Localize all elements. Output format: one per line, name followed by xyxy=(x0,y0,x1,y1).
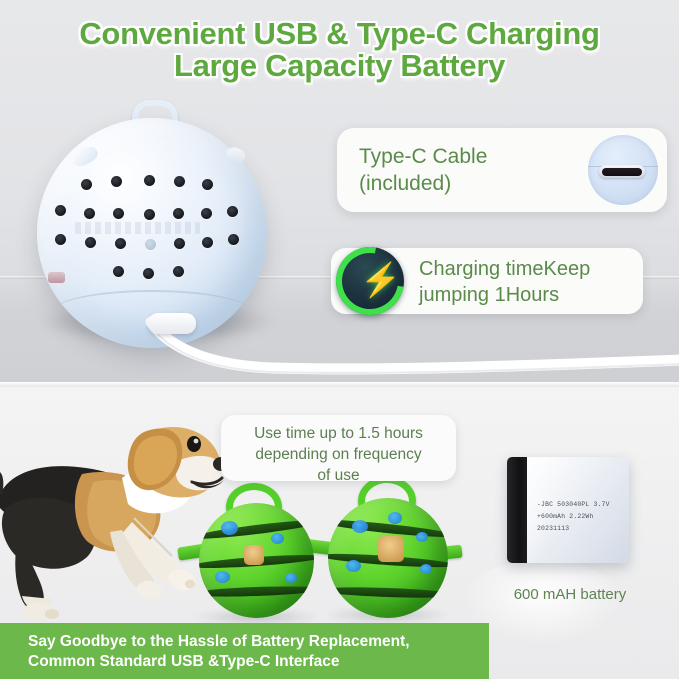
paw-print xyxy=(285,573,297,583)
battery-label-line-2: +600mAh 2.22Wh 20231113 xyxy=(537,511,629,535)
paw-print xyxy=(271,533,284,544)
usb-c-connector-shape xyxy=(599,165,645,178)
battery-label-line-1: -JBC 503040PL 3.7V xyxy=(537,499,629,511)
callout-type-c-line-2: (included) xyxy=(359,171,487,198)
green-pet-ball-right[interactable] xyxy=(328,498,448,618)
paw-print xyxy=(388,512,402,524)
lightning-bolt-icon: ⚡ xyxy=(360,263,382,299)
dog-graphic xyxy=(378,536,404,562)
callout-use-time-line-3: of use xyxy=(221,466,456,487)
product-infographic: Convenient USB & Type-C Charging Large C… xyxy=(0,0,679,679)
battery-terminal-tab xyxy=(507,457,527,563)
page-title: Convenient USB & Type-C Charging Large C… xyxy=(0,18,679,82)
callout-use-time-line-1: Use time up to 1.5 hours xyxy=(221,424,456,445)
callout-type-c-text: Type-C Cable (included) xyxy=(359,144,487,198)
callout-use-time: Use time up to 1.5 hours depending on fr… xyxy=(221,415,456,481)
banner-line-2: Common Standard USB &Type-C Interface xyxy=(28,652,410,672)
callout-type-c-cable: Type-C Cable (included) xyxy=(337,128,667,212)
title-line-1: Convenient USB & Type-C Charging xyxy=(0,18,679,50)
callout-use-time-line-2: depending on frequency xyxy=(221,445,456,466)
title-line-2: Large Capacity Battery xyxy=(0,50,679,82)
callout-charging-text: Charging timeKeep jumping 1Hours xyxy=(419,257,590,308)
callout-charging-line-2: jumping 1Hours xyxy=(419,283,590,309)
paw-print xyxy=(346,560,361,572)
paw-print xyxy=(221,521,238,535)
lipo-battery: -JBC 503040PL 3.7V +600mAh 2.22Wh 202311… xyxy=(507,457,629,563)
panel-divider xyxy=(0,382,679,387)
battery-product: -JBC 503040PL 3.7V +600mAh 2.22Wh 202311… xyxy=(497,452,637,570)
ball-power-switch[interactable] xyxy=(48,272,65,283)
callout-use-time-text: Use time up to 1.5 hours depending on fr… xyxy=(221,424,456,486)
cable-plug xyxy=(148,313,196,334)
battery-caption: 600 mAH battery xyxy=(470,586,670,603)
banner-line-1: Say Goodbye to the Hassle of Battery Rep… xyxy=(28,632,410,652)
paw-print xyxy=(352,520,368,533)
bottom-banner: Say Goodbye to the Hassle of Battery Rep… xyxy=(0,623,489,679)
ball-embossed-logo xyxy=(75,222,200,234)
charging-badge: ⚡ xyxy=(336,247,404,315)
usb-c-port-icon xyxy=(588,135,658,205)
callout-charging-time: ⚡ Charging timeKeep jumping 1Hours xyxy=(331,248,643,314)
paw-print xyxy=(420,564,432,574)
banner-text: Say Goodbye to the Hassle of Battery Rep… xyxy=(28,632,410,673)
battery-label: -JBC 503040PL 3.7V +600mAh 2.22Wh 202311… xyxy=(537,499,629,536)
dog-graphic xyxy=(244,545,264,565)
callout-type-c-line-1: Type-C Cable xyxy=(359,144,487,171)
charging-cable xyxy=(143,316,679,380)
green-pet-ball-left[interactable] xyxy=(199,503,314,618)
paw-print xyxy=(215,571,230,583)
callout-charging-line-1: Charging timeKeep xyxy=(419,257,590,283)
top-panel: Convenient USB & Type-C Charging Large C… xyxy=(0,0,679,382)
paw-print xyxy=(416,532,428,542)
